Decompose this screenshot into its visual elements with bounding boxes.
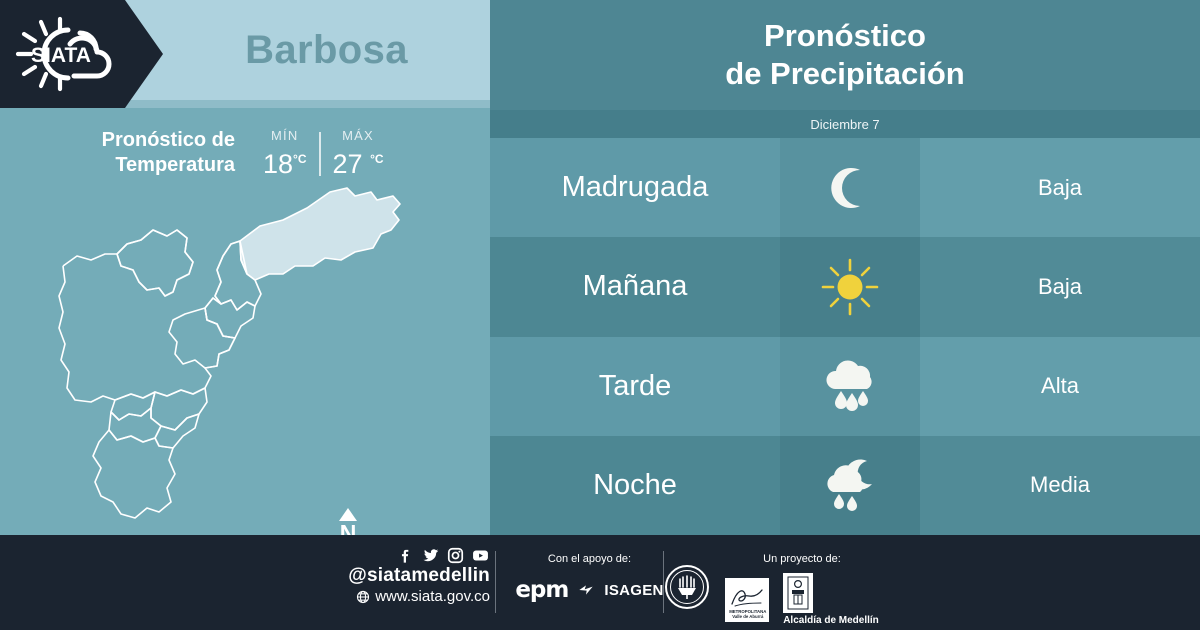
precipitation-title-line1: Pronóstico [764,18,926,53]
footer-support-block: Con el apoyo de: epm ISAGEN [512,553,667,603]
alcaldia-logo-group[interactable]: Alcaldía de Medellín [783,573,879,626]
forecast-period-cell: Noche [490,436,780,535]
support-logos: epm ISAGEN [512,577,667,603]
forecast-row[interactable]: Noche Media [490,436,1200,535]
infographic-canvas: SIATA Barbosa Pronóstico de Temperatura … [0,0,1200,630]
alcaldia-crest-icon [787,576,809,610]
forecast-row[interactable]: Tarde Alta [490,337,1200,436]
area-signature-icon [729,584,765,610]
project-logos: METROPOLITANA Valle de Aburrá [712,573,892,626]
footer-divider-2 [663,551,664,613]
forecast-period-cell: Madrugada [490,138,780,237]
forecast-probability-cell: Media [920,436,1200,535]
forecast-probability-label: Media [1030,472,1090,498]
website-url: www.siata.gov.co [375,587,490,607]
footer: @siatamedellin www.siata.gov.co Con el a… [0,535,1200,630]
forecast-period-cell: Tarde [490,337,780,436]
precipitation-panel: Pronóstico de Precipitación Diciembre 7 … [490,0,1200,535]
precipitation-header: Pronóstico de Precipitación [490,0,1200,110]
forecast-rows: Madrugada Baja Mañana [490,138,1200,535]
sun-cloud-icon: SIATA [14,16,124,92]
forecast-date-bar: Diciembre 7 [490,110,1200,138]
rain-cloud-icon [820,357,880,415]
temperature-title-line2: Temperatura [115,154,235,176]
forecast-icon-cell [780,237,920,336]
forecast-period-cell: Mañana [490,237,780,336]
city-name: Barbosa [163,0,490,100]
forecast-period-label: Madrugada [562,171,709,204]
temperature-block: Pronóstico de Temperatura MÍN 18°C MÁX 2… [60,122,420,184]
valle-de-aburra-map: N [55,178,475,530]
temperature-divider [319,132,321,176]
forecast-period-label: Noche [593,469,677,502]
forecast-probability-label: Baja [1038,175,1082,201]
forecast-icon-cell [780,337,920,436]
temperature-min-unit: °C [293,152,306,166]
social-icons [300,547,490,564]
moon-icon [822,160,878,216]
temperature-min-value: 18°C [263,145,307,178]
forecast-probability-cell: Alta [920,337,1200,436]
epm-logo[interactable]: epm [515,577,568,603]
temperature-title-line1: Pronóstico de [102,129,235,151]
area-logo-sublabel: METROPOLITANA Valle de Aburrá [729,609,766,619]
website-line[interactable]: www.siata.gov.co [300,587,490,607]
temperature-min-caption: MÍN [263,128,307,143]
forecast-date: Diciembre 7 [810,117,879,132]
forecast-row[interactable]: Mañana [490,237,1200,336]
globe-icon [356,590,370,604]
footer-social-block: @siatamedellin www.siata.gov.co [300,547,490,607]
map-svg [55,178,475,530]
siata-logo-text: SIATA [31,44,91,67]
twitter-icon[interactable] [421,547,440,564]
support-caption: Con el apoyo de: [512,553,667,565]
instagram-icon[interactable] [447,547,464,564]
footer-project-block: Un proyecto de: METROPOLITANA Valle de A… [712,553,892,626]
alcaldia-crest-box [783,573,813,613]
forecast-icon-cell [780,436,920,535]
map-municipality-barbosa [240,188,400,280]
social-handle[interactable]: @siatamedellin [300,565,490,587]
forecast-probability-cell: Baja [920,237,1200,336]
isagen-logo[interactable]: ISAGEN [604,582,663,599]
moon-rain-cloud-icon [820,456,880,514]
temperature-max-unit: °C [370,152,383,166]
precipitation-title: Pronóstico de Precipitación [725,17,964,93]
temperature-title: Pronóstico de Temperatura [60,128,235,178]
forecast-probability-cell: Baja [920,138,1200,237]
temperature-values: MÍN 18°C MÁX 27 °C [251,128,396,178]
facebook-icon[interactable] [397,547,414,564]
left-panel: SIATA Barbosa Pronóstico de Temperatura … [0,0,490,535]
forecast-probability-label: Baja [1038,274,1082,300]
forecast-icon-cell [780,138,920,237]
footer-divider-1 [495,551,496,613]
sun-icon [819,256,881,318]
forecast-row[interactable]: Madrugada Baja [490,138,1200,237]
medellin-seal-icon [665,565,709,609]
area-metropolitana-logo[interactable]: METROPOLITANA Valle de Aburrá [725,578,769,622]
forecast-period-label: Mañana [583,270,688,303]
temperature-max-caption: MÁX [333,128,384,143]
project-caption: Un proyecto de: [712,553,892,565]
forecast-period-label: Tarde [599,370,672,403]
temperature-min: MÍN 18°C [251,128,319,178]
youtube-icon[interactable] [471,547,490,564]
precipitation-title-line2: de Precipitación [725,56,964,91]
isagen-mark-icon [578,582,594,598]
temperature-max: MÁX 27 °C [321,128,396,178]
temperature-max-value: 27 °C [333,145,384,178]
alcaldia-label: Alcaldía de Medellín [783,615,879,626]
forecast-probability-label: Alta [1041,373,1079,399]
